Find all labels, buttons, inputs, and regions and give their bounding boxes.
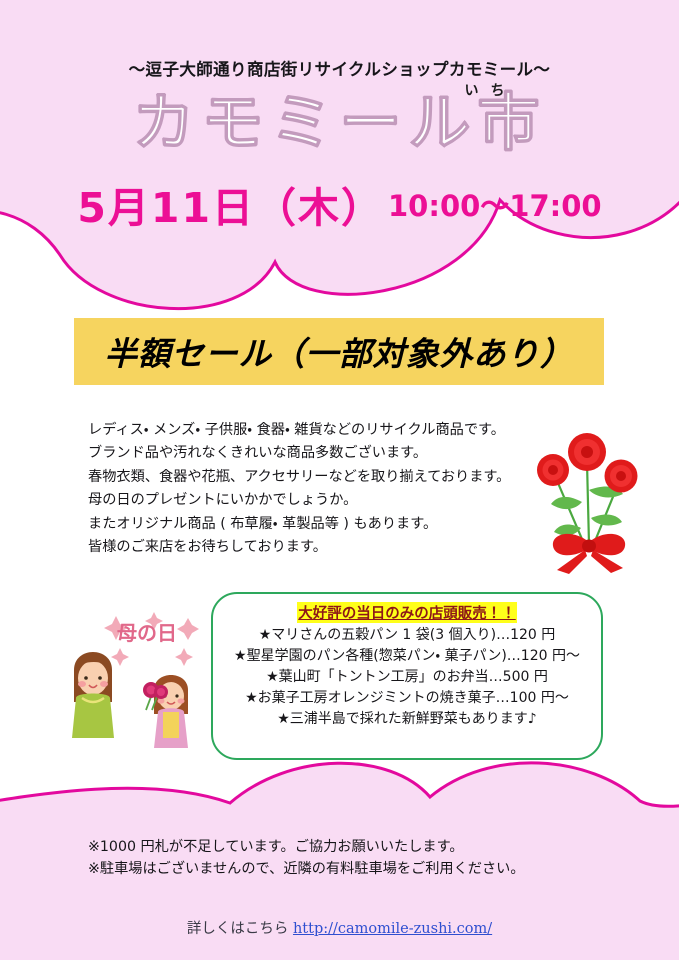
description-line: またオリジナル商品 ( 布草履・ 革製品等 ) もあります。 (88, 517, 518, 532)
title-furigana: いち (465, 80, 517, 100)
event-time: 10:00〜17:00 (388, 189, 602, 223)
day-of-sales-heading: 大好評の当日のみの店頭販売！！ (297, 602, 517, 623)
description-line: ブランド品や汚れなくきれいな商品多数ございます。 (88, 446, 518, 461)
list-item: ★三浦半島で採れた新鮮野菜もあります♪ (213, 712, 601, 726)
mothers-day-label: 母の日 (117, 621, 177, 645)
carnation-bouquet-icon (527, 424, 657, 574)
description-line: 春物衣類、食器や花瓶、アクセサリーなどを取り揃えております。 (88, 470, 518, 485)
day-of-sales-list: ★マリさんの五穀パン 1 袋(3 個入り)…120 円 ★聖星学園のパン各種(惣… (213, 628, 601, 726)
description-line: 皆様のご来店をお待ちしております。 (88, 540, 518, 555)
website-prefix: 詳しくはこちら (187, 921, 293, 937)
mother-and-child-icon: 母の日 (72, 598, 222, 758)
page-title: カモミール市 (0, 86, 679, 160)
sale-banner-label: 半額セール（一部対象外あり） (104, 328, 573, 375)
day-of-sales-box: 大好評の当日のみの店頭販売！！ ★マリさんの五穀パン 1 袋(3 個入り)…12… (211, 592, 603, 760)
flyer-header: 〜逗子大師通り商店街リサイクルショップカモミール〜 カモミール市 いち 5月11… (0, 0, 679, 234)
mother-figure (72, 652, 114, 738)
list-item: ★マリさんの五穀パン 1 袋(3 個入り)…120 円 (213, 628, 601, 642)
note-line: ※駐車場はございませんので、近隣の有料駐車場をご利用ください。 (88, 862, 558, 878)
list-item: ★聖星学園のパン各種(惣菜パン・ 菓子パン)…120 円〜 (213, 649, 601, 663)
title-block: カモミール市 いち (0, 86, 679, 160)
list-item: ★葉山町「トントン工房」のお弁当…500 円 (213, 670, 601, 684)
shop-subtitle: 〜逗子大師通り商店街リサイクルショップカモミール〜 (0, 56, 679, 80)
event-datetime: 5月11日（木）10:00〜17:00 (0, 174, 679, 234)
description-line: レディス・ メンズ・ 子供服・ 食器・ 雑貨などのリサイクル商品です。 (88, 423, 518, 438)
list-item: ★お菓子工房オレンジミントの焼き菓子…100 円〜 (213, 691, 601, 705)
footer-notes: ※1000 円札が不足しています。ご協力お願いいたします。 ※駐車場はございませ… (88, 840, 558, 883)
description-text: レディス・ メンズ・ 子供服・ 食器・ 雑貨などのリサイクル商品です。 ブランド… (88, 423, 518, 563)
note-line: ※1000 円札が不足しています。ご協力お願いいたします。 (88, 840, 558, 856)
website-line: 詳しくはこちら http://camomile-zushi.com/ (0, 917, 679, 938)
description-line: 母の日のプレゼントにいかかでしょうか。 (88, 493, 518, 508)
event-date: 5月11日（木） (77, 184, 384, 232)
half-price-sale-banner: 半額セール（一部対象外あり） (74, 318, 604, 385)
flyer-page: 〜逗子大師通り商店街リサイクルショップカモミール〜 カモミール市 いち 5月11… (0, 0, 679, 960)
website-link[interactable]: http://camomile-zushi.com/ (293, 921, 492, 937)
